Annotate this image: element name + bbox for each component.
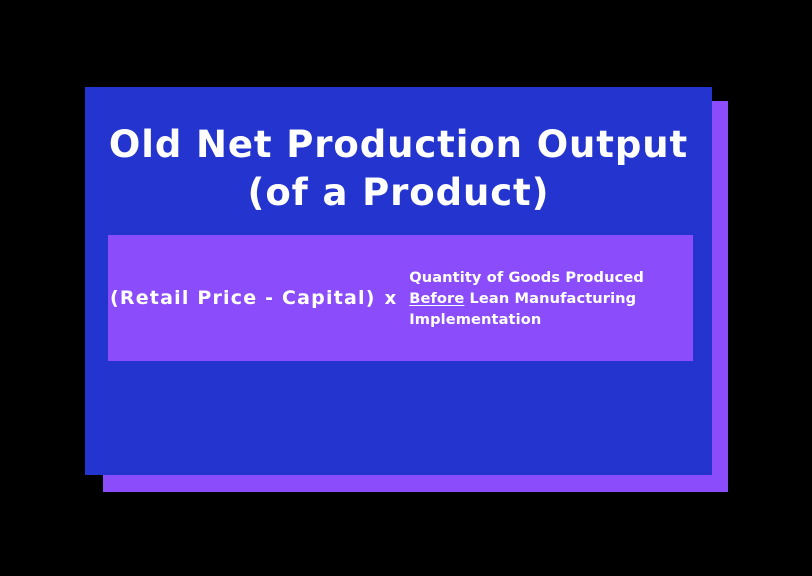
formula-left-expression: (Retail Price - Capital) — [110, 287, 376, 309]
slide-canvas: Old Net Production Output (of a Product)… — [0, 0, 812, 576]
formula-row: (Retail Price - Capital) x Quantity of G… — [108, 267, 693, 330]
title-line-1: Old Net Production Output — [85, 121, 712, 169]
title-line-2: (of a Product) — [85, 169, 712, 217]
formula-right-prefix: Quantity of Goods Produced — [409, 269, 644, 286]
formula-right-expression: Quantity of Goods Produced Before Lean M… — [409, 267, 689, 330]
page-title: Old Net Production Output (of a Product) — [85, 121, 712, 217]
formula-multiply-operator: x — [385, 288, 397, 309]
formula-panel: (Retail Price - Capital) x Quantity of G… — [108, 235, 693, 361]
card-main-panel: Old Net Production Output (of a Product)… — [85, 87, 712, 475]
formula-right-emphasis: Before — [409, 290, 464, 307]
